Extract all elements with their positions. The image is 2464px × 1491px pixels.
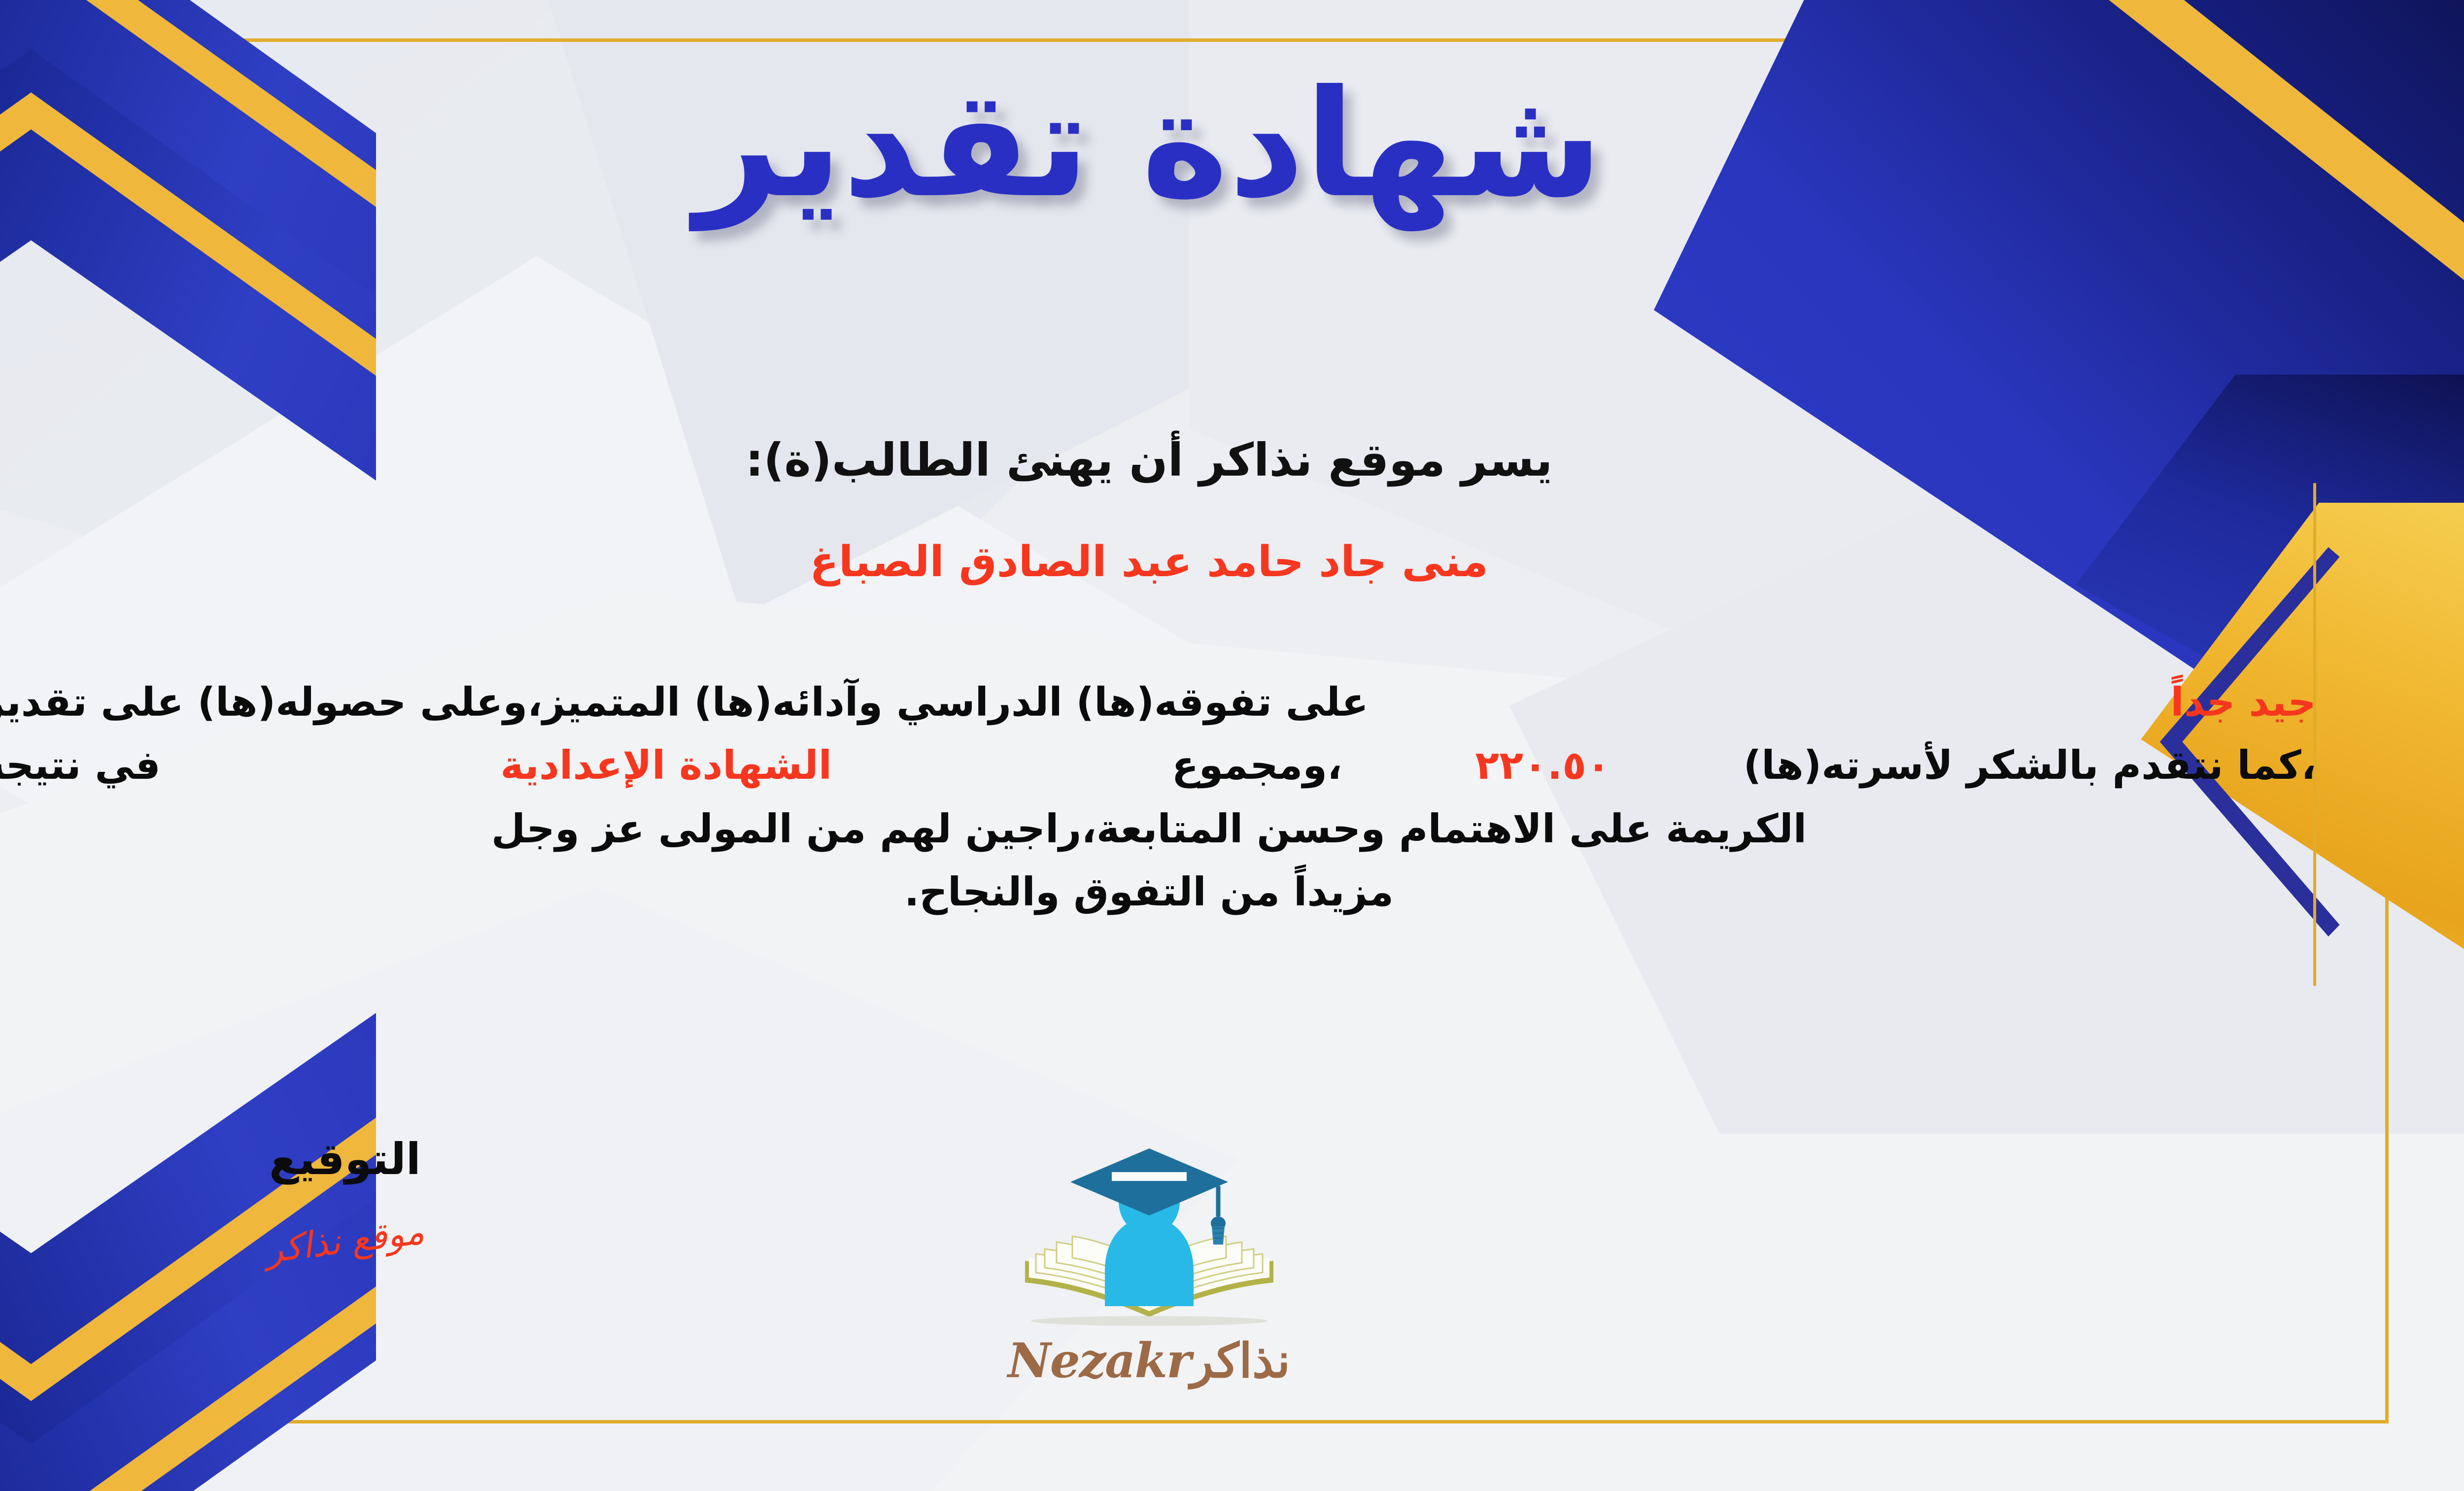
- signature-script: موقع نذاكر: [263, 1211, 426, 1271]
- signature-block: التوقيع موقع نذاكر: [172, 1134, 517, 1261]
- graduate-book-icon: [962, 1144, 1336, 1341]
- certificate-body: جيد جداً على تفوقه(ها) الدراسي وآدائه(ها…: [0, 675, 2316, 929]
- certificate-title: شهادة تقدير: [0, 52, 2464, 237]
- body-line-3: الكريمة على الاهتمام وحسن المتابعة،راجين…: [0, 802, 2316, 856]
- certificate-page: شهادة تقدير يسر موقع نذاكر أن يهنئ الطال…: [0, 0, 2464, 1491]
- logo-text-latin: Nezakr: [1008, 1333, 1191, 1388]
- total-score-value: ٢٢٠.٥٠: [1475, 738, 1610, 793]
- logo-text-arabic: نذاكر: [1191, 1333, 1290, 1388]
- site-logo: نذاكرNezakr: [962, 1144, 1336, 1388]
- body-line-1-text: على تفوقه(ها) الدراسي وآدائه(ها) المتميز…: [0, 675, 1369, 729]
- greeting-line: يسر موقع نذاكر أن يهنئ الطالب(ة):: [0, 434, 2464, 486]
- body-line-2-mid: ،ومجموع: [1172, 738, 1342, 793]
- body-line-3-text: الكريمة على الاهتمام وحسن المتابعة،راجين…: [491, 802, 1807, 856]
- body-line-2-head: في نتيجة: [0, 738, 161, 793]
- body-line-1: جيد جداً على تفوقه(ها) الدراسي وآدائه(ها…: [0, 675, 2316, 729]
- body-line-4-text: مزيداً من التفوق والنجاح.: [904, 865, 1394, 919]
- body-line-4: مزيداً من التفوق والنجاح.: [0, 865, 2316, 919]
- exam-name-value: الشهادة الإعدادية: [500, 738, 832, 793]
- body-line-2: ،كما نتقدم بالشكر لأسرته(ها) ٢٢٠.٥٠ ،ومج…: [0, 738, 2316, 793]
- body-line-2-tail: ،كما نتقدم بالشكر لأسرته(ها): [1744, 738, 2316, 793]
- student-name: منى جاد حامد عبد الصادق الصباغ: [0, 537, 2464, 587]
- logo-wordmark: نذاكرNezakr: [962, 1333, 1336, 1388]
- signature-label: التوقيع: [172, 1134, 517, 1184]
- certificate-content: شهادة تقدير يسر موقع نذاكر أن يهنئ الطال…: [0, 0, 2464, 1491]
- grade-value: جيد جداً: [2170, 675, 2316, 729]
